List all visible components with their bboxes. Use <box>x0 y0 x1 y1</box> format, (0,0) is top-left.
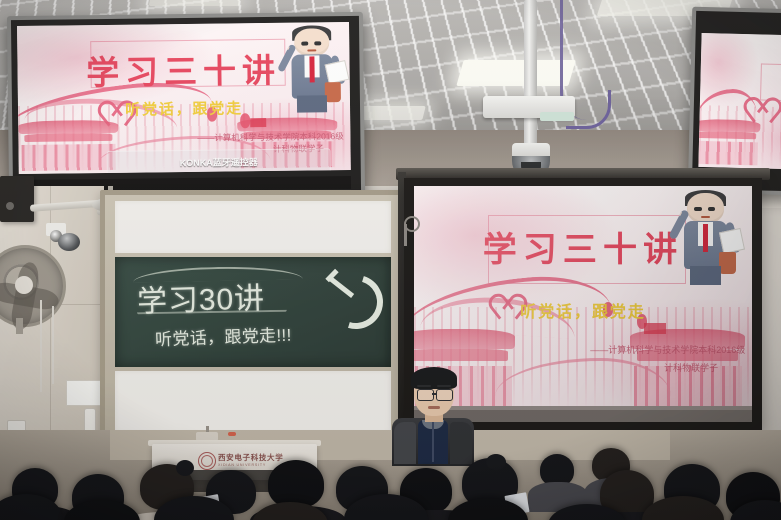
blackboard-slogan: 听党话，跟党走!!! <box>155 321 292 351</box>
slide-artwork <box>698 33 781 169</box>
projector-lens <box>540 112 574 121</box>
glasses-bridge <box>432 393 437 395</box>
slide-credit-line-2: 计科物联学子 <box>441 361 718 374</box>
speaker-mouth <box>428 406 440 409</box>
fan-pull-cord[interactable] <box>52 306 54 384</box>
speaker-eyebrow <box>437 385 451 387</box>
whiteboard-panel-top <box>115 201 391 253</box>
audience-head <box>268 460 324 508</box>
cartoon-figure <box>672 193 738 285</box>
slide-subtitle: 听党话，跟党走 <box>414 298 752 322</box>
gate-decoration <box>698 119 761 166</box>
classroom-blackboard: 学习30讲 听党话，跟党走!!! <box>100 190 406 450</box>
wall-notice-paper <box>66 380 102 406</box>
lecture-hall-photo: 学习三十讲 听党话，跟党走 ——计算机科学与技术学院本科2016级 计科物联学子… <box>0 0 781 520</box>
cartoon-figure <box>280 28 343 113</box>
audience-head <box>252 502 328 520</box>
hammer-and-sickle-icon <box>323 265 375 319</box>
projector-mount-arm <box>524 0 537 148</box>
hair-bun <box>486 454 506 470</box>
screen-hook-stem <box>404 224 407 246</box>
slide-credit-line-1: ——计算机科学与技术学院本科2016级 <box>441 343 745 356</box>
hair-bun <box>176 460 194 476</box>
seated-audience <box>0 420 781 520</box>
tv-right-screen <box>698 33 781 169</box>
wall-mounted-tv-right[interactable] <box>688 7 781 196</box>
fan-bracket <box>16 318 23 334</box>
fan-pull-cord[interactable] <box>40 300 42 392</box>
blackboard-heading: 学习30讲 <box>136 273 265 320</box>
overlay-title: KONKA蓝牙遥控器 <box>108 154 330 170</box>
flag-decoration <box>644 323 666 334</box>
wall-speaker <box>0 176 34 222</box>
wall-mounted-tv-left[interactable]: 学习三十讲 听党话，跟党走 ——计算机科学与技术学院本科2016级 计科物联学子… <box>7 12 365 199</box>
glasses-icon <box>436 389 453 401</box>
bluetooth-remote-overlay: KONKA蓝牙遥控器 搜索设备中 Searching for Bluetooth… <box>107 148 331 174</box>
blackboard-surface: 学习30讲 听党话，跟党走!!! <box>115 257 391 367</box>
wall-dome-camera <box>58 233 80 251</box>
flag-decoration <box>251 118 267 127</box>
title-box <box>760 64 781 102</box>
speaker-eyebrow <box>417 385 431 387</box>
glasses-icon <box>417 389 434 401</box>
tv-left-screen: 学习三十讲 听党话，跟党走 ——计算机科学与技术学院本科2016级 计科物联学子… <box>17 22 351 174</box>
overlay-status: 搜索设备中 <box>108 170 330 174</box>
